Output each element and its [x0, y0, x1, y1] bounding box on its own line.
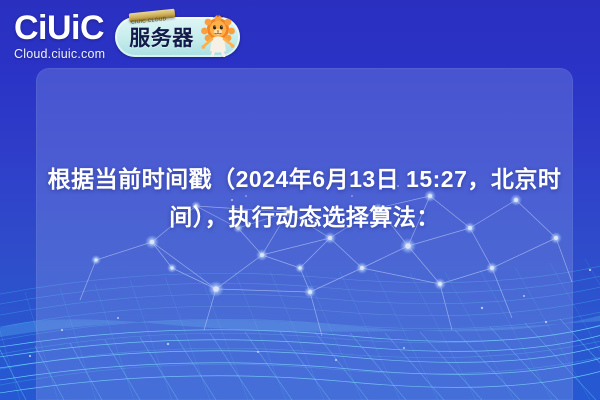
site-logo[interactable]: CiUiC Cloud.ciuic.com [14, 11, 105, 61]
server-badge: CIUIC CLOUD 服务器 [115, 17, 240, 57]
logo-wordmark: CiUiC [14, 11, 104, 45]
brand-header: CiUiC Cloud.ciuic.com CIUIC CLOUD 服务器 [14, 6, 240, 66]
badge-label: 服务器 [129, 22, 194, 52]
promotional-banner: CiUiC Cloud.ciuic.com CIUIC CLOUD 服务器 [0, 0, 600, 400]
statement-text: 根据当前时间戳（2024年6月13日 15:27，北京时间），执行动态选择算法： [36, 160, 573, 236]
logo-domain-text: Cloud.ciuic.com [14, 48, 105, 61]
lion-mascot-icon [200, 15, 236, 57]
